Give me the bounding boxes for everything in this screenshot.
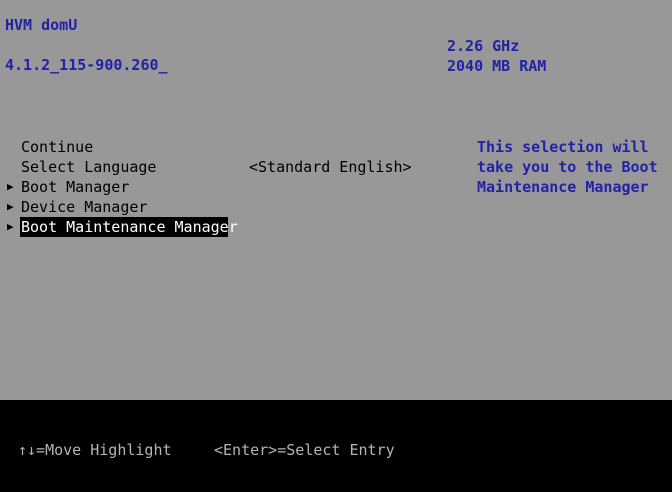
menu-item-label: Boot Manager	[20, 177, 130, 197]
menu-item-label: Continue	[20, 137, 94, 157]
help-line: This selection will	[477, 137, 667, 157]
help-line: Maintenance Manager	[477, 177, 667, 197]
firmware-version: 4.1.2_115-900.260_	[5, 57, 168, 73]
hint-move-highlight: ↑↓=Move Highlight	[18, 440, 172, 460]
menu-item-continue[interactable]: Continue	[0, 137, 440, 157]
menu-item-label: Device Manager	[20, 197, 148, 217]
hint-select-entry: <Enter>=Select Entry	[214, 440, 395, 460]
cpu-speed: 2.26 GHz	[447, 38, 519, 54]
submenu-arrow-icon: ▶	[7, 217, 19, 237]
main-panel: HVM domU 4.1.2_115-900.260_ 2.26 GHz 204…	[0, 0, 672, 400]
submenu-arrow-icon	[7, 157, 19, 177]
menu-item-boot-manager[interactable]: ▶ Boot Manager	[0, 177, 440, 197]
menu-item-device-manager[interactable]: ▶ Device Manager	[0, 197, 440, 217]
menu-item-boot-maintenance-manager[interactable]: ▶ Boot Maintenance Manager	[0, 217, 440, 237]
menu-item-label: Select Language	[20, 157, 157, 177]
menu-item-value[interactable]: <Standard English>	[249, 157, 412, 177]
memory-size: 2040 MB RAM	[447, 58, 546, 74]
platform-name: HVM domU	[5, 17, 77, 33]
submenu-arrow-icon: ▶	[7, 177, 19, 197]
help-line: take you to the Boot	[477, 157, 667, 177]
submenu-arrow-icon: ▶	[7, 197, 19, 217]
help-pane: This selection will take you to the Boot…	[477, 137, 667, 197]
menu-item-select-language[interactable]: Select Language <Standard English>	[0, 157, 440, 177]
uefi-setup-screen: HVM domU 4.1.2_115-900.260_ 2.26 GHz 204…	[0, 0, 672, 492]
submenu-arrow-icon	[7, 137, 19, 157]
main-menu: Continue Select Language <Standard Engli…	[0, 137, 440, 237]
menu-item-label: Boot Maintenance Manager	[20, 217, 228, 237]
